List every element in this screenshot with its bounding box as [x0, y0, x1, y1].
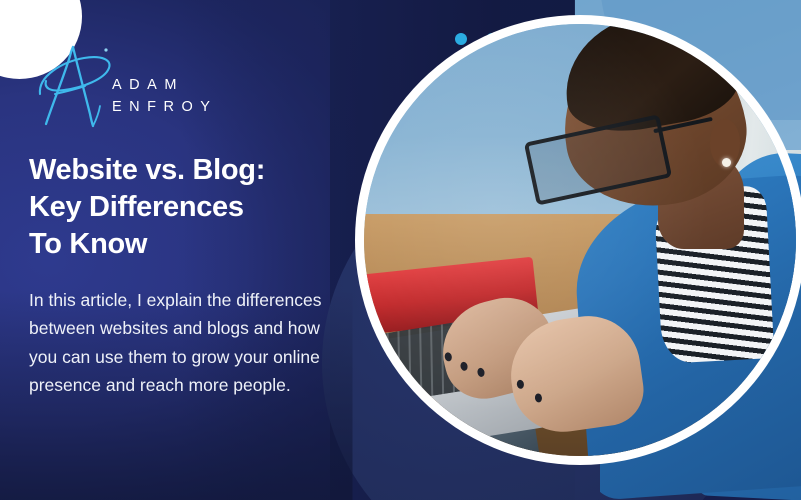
- featured-image-card: ADAM ENFROY Website vs. Blog: Key Differ…: [0, 0, 801, 500]
- page-title-line-1: Website vs. Blog:: [29, 152, 359, 189]
- brand-logo[interactable]: ADAM ENFROY: [36, 36, 266, 128]
- brand-wordmark: ADAM ENFROY: [112, 74, 217, 119]
- brand-name-line-1: ADAM: [112, 74, 217, 96]
- page-title-line-3: To Know: [29, 226, 359, 263]
- page-title-line-2: Key Differences: [29, 189, 359, 226]
- brand-name-line-2: ENFROY: [112, 96, 217, 118]
- page-description: In this article, I explain the differenc…: [29, 286, 349, 399]
- adam-enfroy-a-mark-icon: [36, 36, 114, 133]
- page-title: Website vs. Blog: Key Differences To Kno…: [29, 152, 359, 263]
- photo-scene: [364, 24, 796, 456]
- hero-photo: [364, 24, 796, 456]
